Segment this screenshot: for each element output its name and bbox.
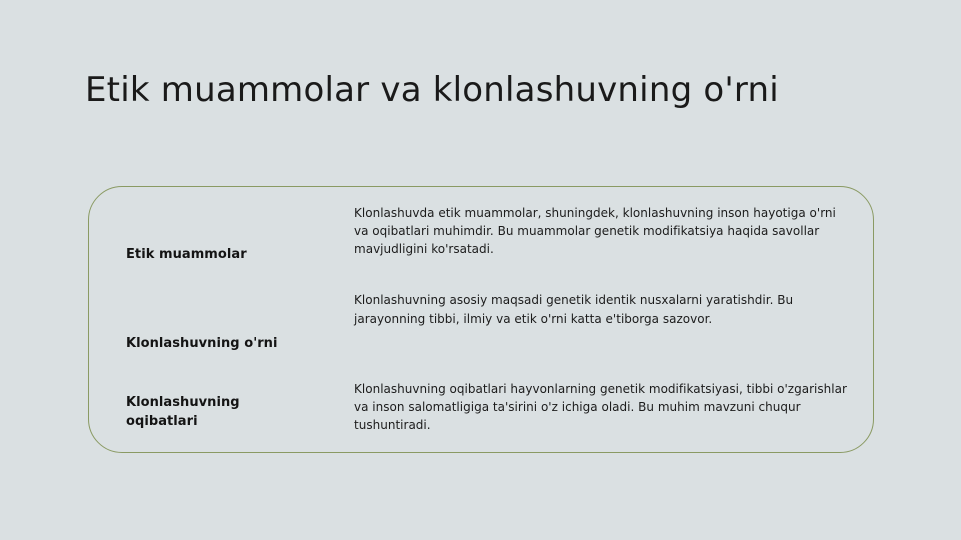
row-description: Klonlashuvning asosiy maqsadi genetik id… <box>354 291 851 327</box>
table-cell-label: Etik muammolar <box>89 187 319 276</box>
table-cell-label: Klonlashuvning o'rni <box>89 276 319 365</box>
table-cell-label: Klonlashuvning oqibatlari <box>89 366 319 452</box>
table-row: Klonlashuvning o'rni Klonlashuvning asos… <box>89 276 873 365</box>
table-cell-description: Klonlashuvda etik muammolar, shuningdek,… <box>319 187 873 276</box>
table-row: Etik muammolar Klonlashuvda etik muammol… <box>89 187 873 276</box>
row-label: Klonlashuvning oqibatlari <box>126 394 311 431</box>
table-cell-description: Klonlashuvning asosiy maqsadi genetik id… <box>319 276 873 365</box>
row-description: Klonlashuvda etik muammolar, shuningdek,… <box>354 204 851 259</box>
row-description: Klonlashuvning oqibatlari hayvonlarning … <box>354 380 851 435</box>
row-label: Klonlashuvning o'rni <box>126 335 278 353</box>
row-label: Etik muammolar <box>126 246 247 264</box>
presentation-slide: Etik muammolar va klonlashuvning o'rni E… <box>0 0 961 540</box>
page-title: Etik muammolar va klonlashuvning o'rni <box>85 70 779 111</box>
content-card: Etik muammolar Klonlashuvda etik muammol… <box>88 186 874 453</box>
definition-table: Etik muammolar Klonlashuvda etik muammol… <box>89 187 873 452</box>
table-cell-description: Klonlashuvning oqibatlari hayvonlarning … <box>319 366 873 452</box>
table-row: Klonlashuvning oqibatlari Klonlashuvning… <box>89 366 873 452</box>
